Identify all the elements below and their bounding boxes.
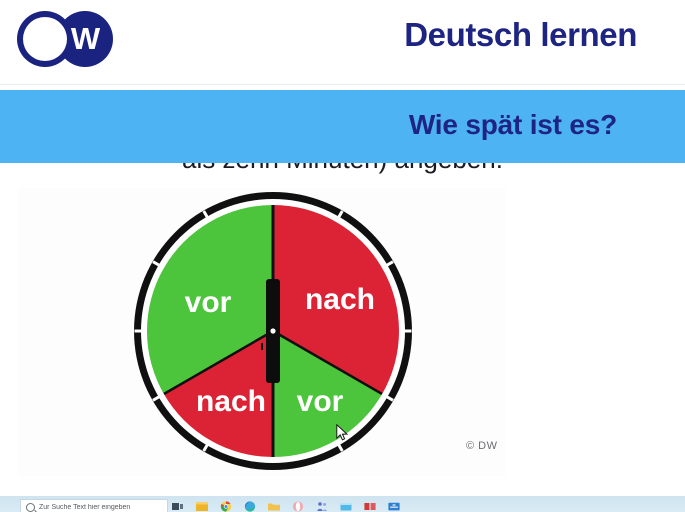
window-icon[interactable] xyxy=(340,501,352,512)
topic-banner-title: Wie spät ist es? xyxy=(409,109,617,141)
copyright-notice: © DW xyxy=(466,440,498,452)
clock-label-bottom-right: vor xyxy=(297,385,344,418)
dw-logo-w-letter: W xyxy=(57,11,113,67)
clock-label-bottom-left: nach xyxy=(196,385,266,418)
task-view-icon[interactable] xyxy=(172,501,184,512)
slide-canvas: D W Deutsch lernen als zehn Minuten) ang… xyxy=(0,0,685,496)
taskbar-icon-strip xyxy=(172,501,400,512)
clock-svg: vor nach nach vor xyxy=(128,186,418,476)
vor-nach-clock-diagram: vor nach nach vor xyxy=(128,186,418,476)
opera-icon[interactable] xyxy=(292,501,304,512)
slide-header: D W Deutsch lernen xyxy=(0,0,685,85)
search-icon xyxy=(26,503,35,512)
store-icon[interactable] xyxy=(388,501,400,512)
figure-image: vor nach nach vor © DW xyxy=(18,188,506,476)
clock-center-dot xyxy=(270,328,275,333)
office-icon[interactable] xyxy=(364,501,376,512)
taskbar-search-box[interactable]: Zur Suche Text hier eingeben xyxy=(20,499,168,512)
teams-icon[interactable] xyxy=(316,501,328,512)
chrome-icon[interactable] xyxy=(220,501,232,512)
dw-logo: D W xyxy=(17,11,121,67)
folder-icon[interactable] xyxy=(268,501,280,512)
topic-banner: Wie spät ist es? xyxy=(0,90,685,163)
clock-label-top-right: nach xyxy=(305,283,375,316)
page-title: Deutsch lernen xyxy=(404,16,637,54)
file-explorer-icon[interactable] xyxy=(196,501,208,512)
edge-icon[interactable] xyxy=(244,501,256,512)
windows-taskbar: Zur Suche Text hier eingeben xyxy=(0,496,685,512)
taskbar-search-placeholder: Zur Suche Text hier eingeben xyxy=(39,504,130,511)
clock-label-top-left: vor xyxy=(185,286,232,319)
